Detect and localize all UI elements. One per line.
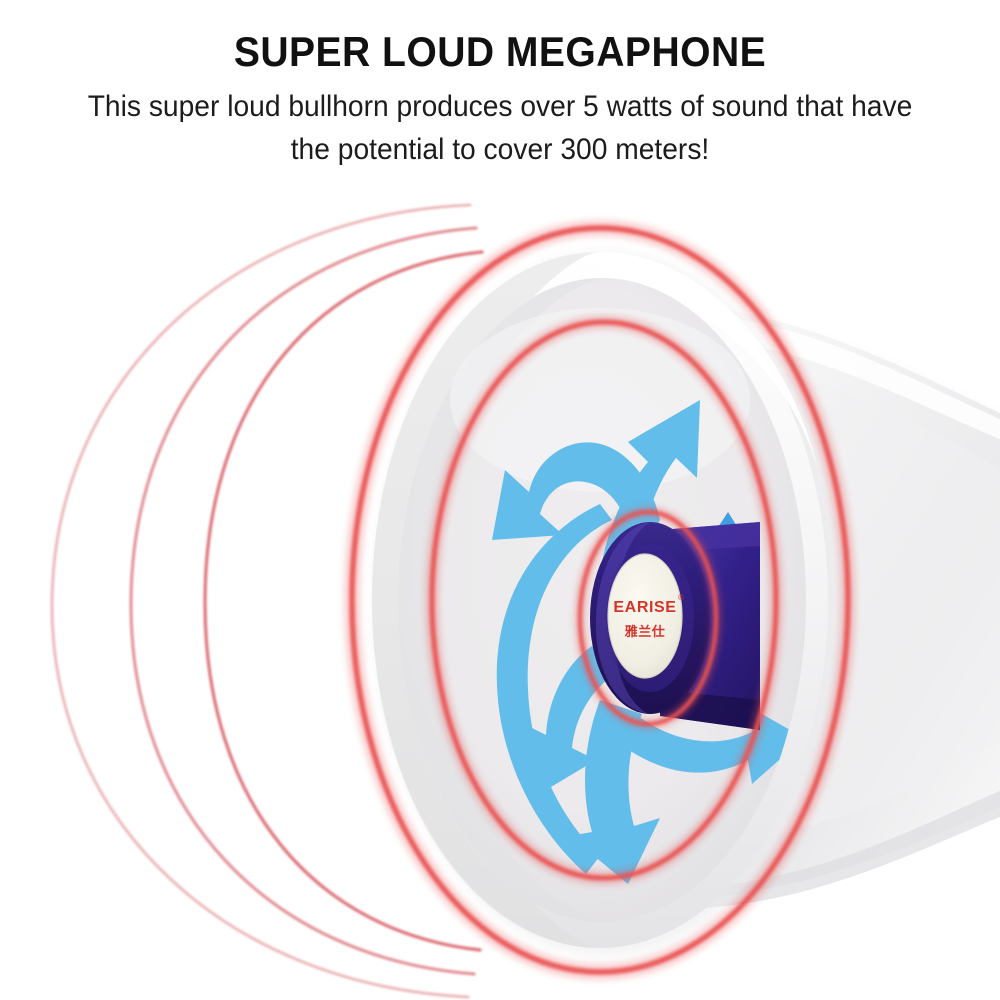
brand-registered-mark: ®: [678, 593, 684, 602]
product-marketing-poster: SUPER LOUD MEGAPHONE This super loud bul…: [0, 0, 1000, 1000]
brand-wordmark-cn: 雅兰仕: [625, 624, 666, 640]
header-text-block: SUPER LOUD MEGAPHONE This super loud bul…: [0, 0, 1000, 171]
subtitle-line-2: the potential to cover 300 meters!: [63, 129, 937, 172]
page-title: SUPER LOUD MEGAPHONE: [35, 0, 965, 74]
brand-wordmark: EARISE: [613, 599, 676, 616]
subtitle-line-1: This super loud bullhorn produces over 5…: [63, 86, 937, 129]
subtitle-text: This super loud bullhorn produces over 5…: [63, 74, 937, 171]
